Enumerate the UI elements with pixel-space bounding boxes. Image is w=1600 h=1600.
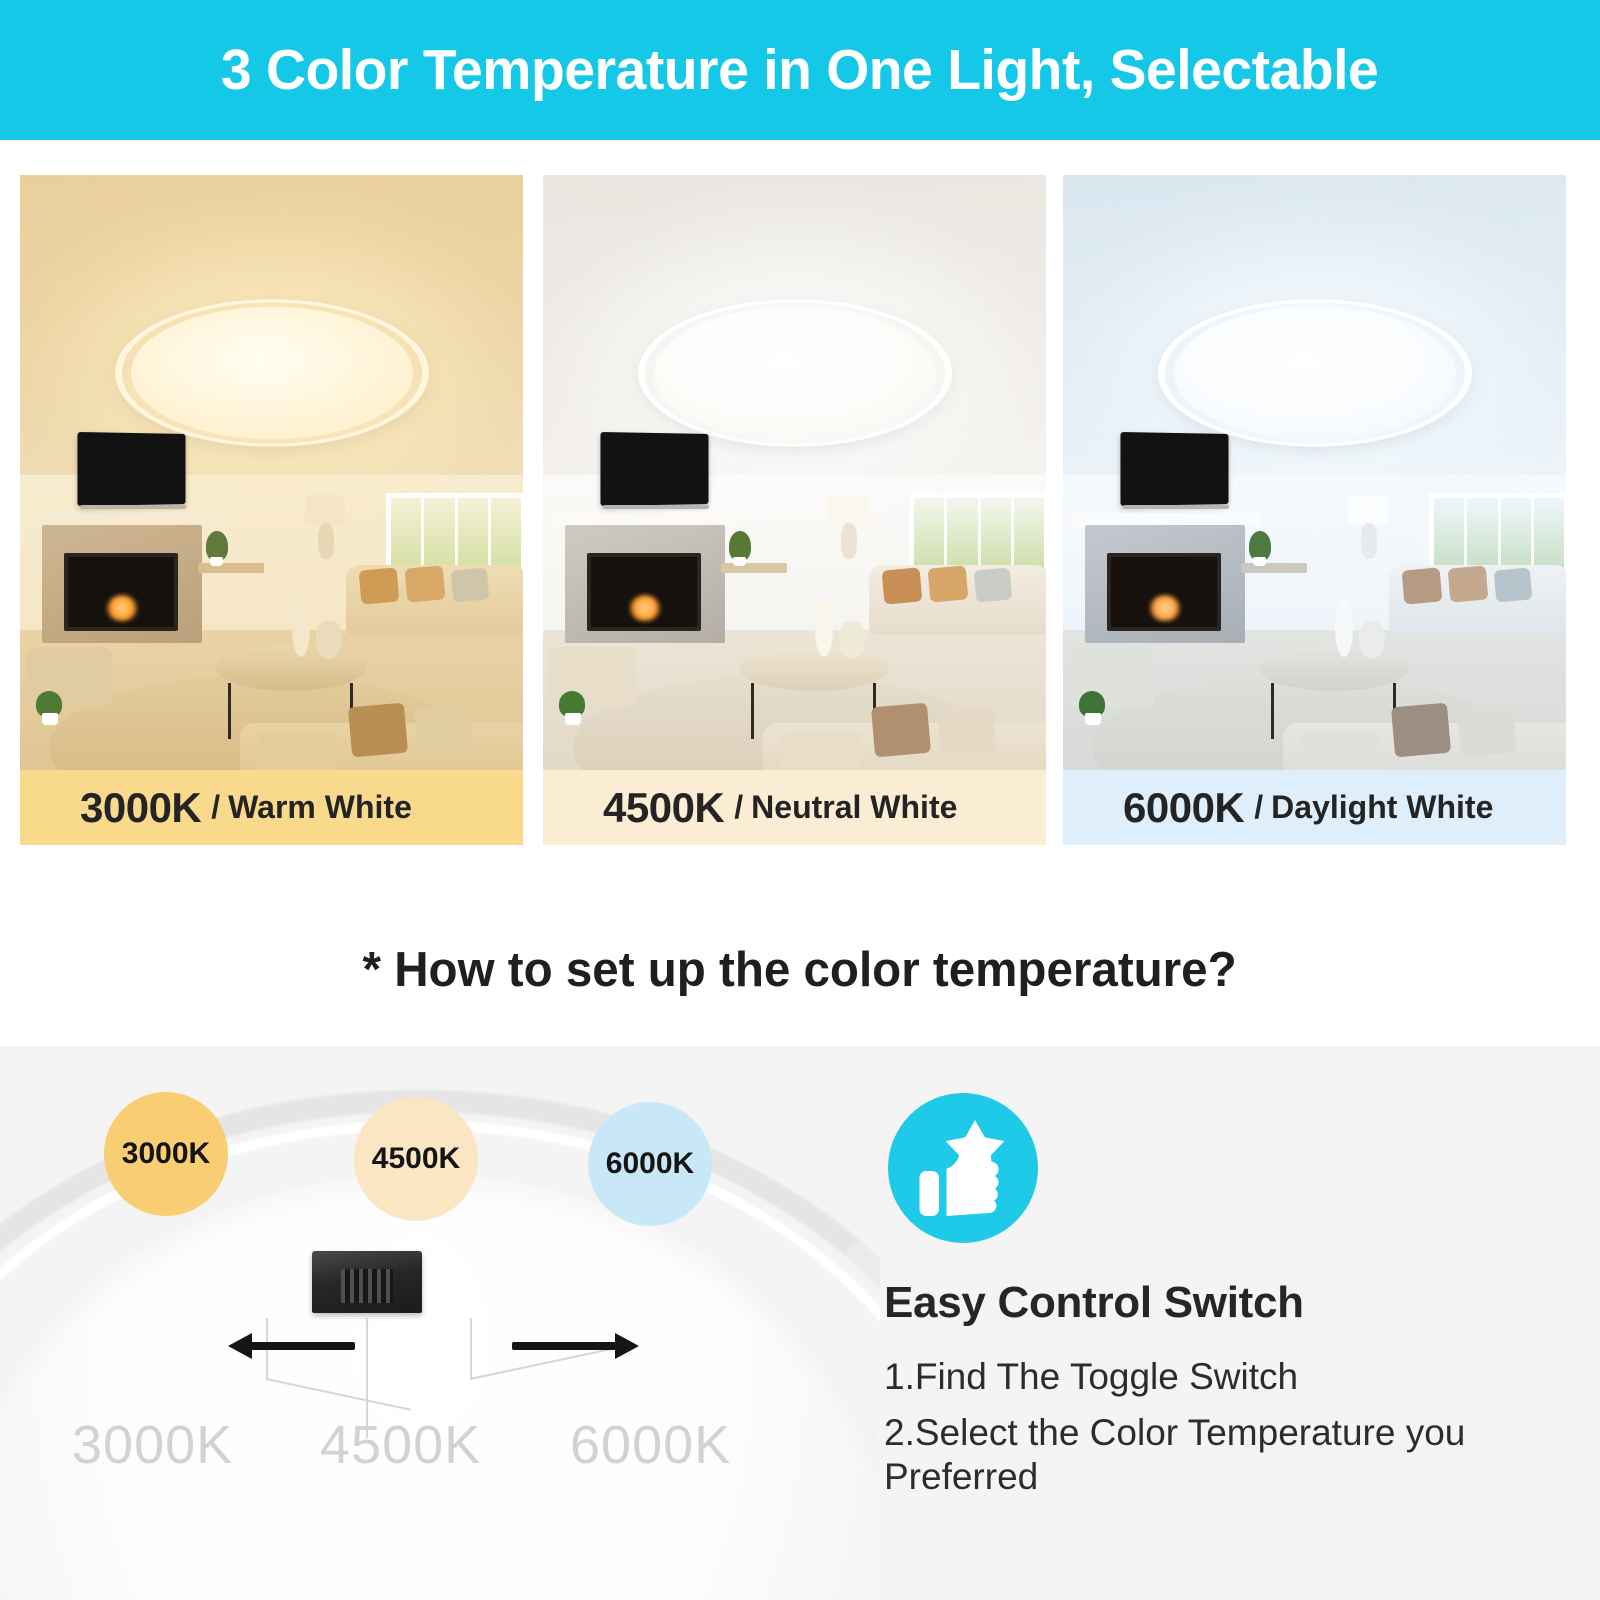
label-band-6000k: 6000K / Daylight White bbox=[1063, 770, 1566, 845]
label-band-4500k: 4500K / Neutral White bbox=[543, 770, 1046, 845]
toggle-switch[interactable] bbox=[312, 1251, 422, 1313]
badge-6000k[interactable]: 6000K bbox=[588, 1102, 712, 1226]
arrow-left-icon bbox=[250, 1342, 355, 1350]
info-title: Easy Control Switch bbox=[884, 1278, 1584, 1328]
arrow-right-icon bbox=[512, 1342, 617, 1350]
badge-3000k[interactable]: 3000K bbox=[104, 1092, 228, 1216]
room-scene-daylight bbox=[1063, 175, 1566, 805]
ceiling-light-icon bbox=[645, 303, 945, 444]
setup-question: * How to set up the color temperature? bbox=[0, 900, 1600, 1040]
label-band-3000k: 3000K / Warm White bbox=[20, 770, 523, 845]
kelvin-value: 4500K bbox=[603, 784, 724, 832]
kelvin-name: Neutral White bbox=[751, 789, 957, 826]
badge-4500k[interactable]: 4500K bbox=[354, 1097, 478, 1221]
label-separator: / bbox=[211, 789, 220, 826]
panel-3000k[interactable]: 3000K / Warm White bbox=[20, 175, 523, 845]
fixture-label-6000k: 6000K bbox=[570, 1414, 731, 1476]
info-column: Easy Control Switch 1.Find The Toggle Sw… bbox=[880, 1046, 1600, 1600]
header-banner: 3 Color Temperature in One Light, Select… bbox=[0, 0, 1600, 140]
label-separator: / bbox=[1254, 789, 1263, 826]
room-scene-neutral bbox=[543, 175, 1046, 805]
comparison-panels: 3000K / Warm White bbox=[0, 140, 1600, 880]
ceiling-light-icon bbox=[122, 303, 422, 444]
switch-teeth-icon bbox=[341, 1269, 393, 1303]
guide-line-right bbox=[470, 1318, 472, 1380]
fixture-label-3000k: 3000K bbox=[72, 1414, 233, 1476]
room-scene-warm bbox=[20, 175, 523, 805]
ceiling-light-icon bbox=[1165, 303, 1465, 444]
panel-4500k[interactable]: 4500K / Neutral White bbox=[543, 175, 1046, 845]
info-step-2: 2.Select the Color Temperature you Prefe… bbox=[884, 1411, 1544, 1498]
setup-section: 3000K 4500K 6000K 3000K 4500K 6000K Easy… bbox=[0, 1046, 1600, 1600]
question-text: * How to set up the color temperature? bbox=[363, 942, 1237, 998]
banner-title: 3 Color Temperature in One Light, Select… bbox=[221, 37, 1378, 103]
kelvin-value: 3000K bbox=[80, 784, 201, 832]
kelvin-name: Warm White bbox=[228, 789, 412, 826]
thumbs-up-star-icon bbox=[888, 1093, 1038, 1243]
label-separator: / bbox=[734, 789, 743, 826]
panel-6000k[interactable]: 6000K / Daylight White bbox=[1063, 175, 1566, 845]
fixture-label-4500k: 4500K bbox=[320, 1414, 481, 1476]
info-step-1: 1.Find The Toggle Switch bbox=[884, 1355, 1544, 1399]
kelvin-value: 6000K bbox=[1123, 784, 1244, 832]
kelvin-name: Daylight White bbox=[1271, 789, 1493, 826]
